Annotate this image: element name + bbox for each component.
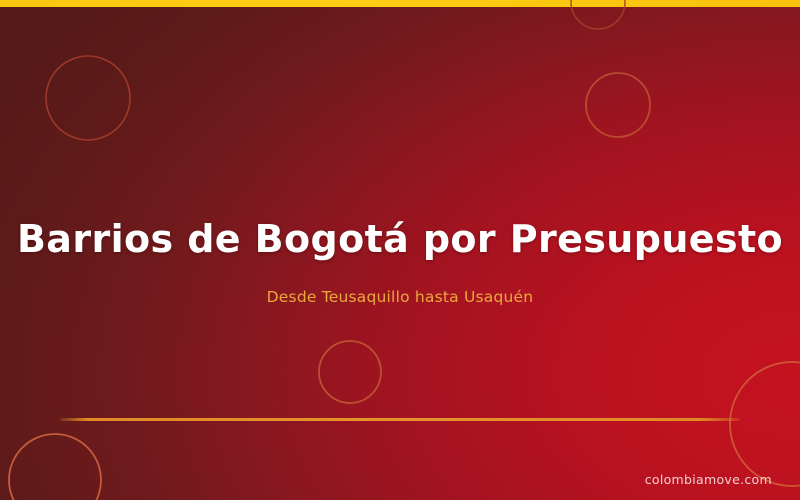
headline-block: Barrios de Bogotá por Presupuesto Desde …: [0, 210, 800, 307]
circle-bottom-left: [9, 434, 101, 500]
footer-site-credit: colombiamove.com: [645, 472, 772, 487]
circle-upper-right: [586, 73, 650, 137]
circle-bottom-right: [730, 362, 800, 486]
top-accent-bar: [0, 0, 800, 7]
section-divider: [60, 418, 740, 421]
title-slide: Barrios de Bogotá por Presupuesto Desde …: [0, 0, 800, 500]
circle-bottom-center: [319, 341, 381, 403]
slide-title: Barrios de Bogotá por Presupuesto: [0, 210, 800, 268]
circle-top-left: [46, 56, 130, 140]
slide-subtitle: Desde Teusaquillo hasta Usaquén: [0, 268, 800, 307]
